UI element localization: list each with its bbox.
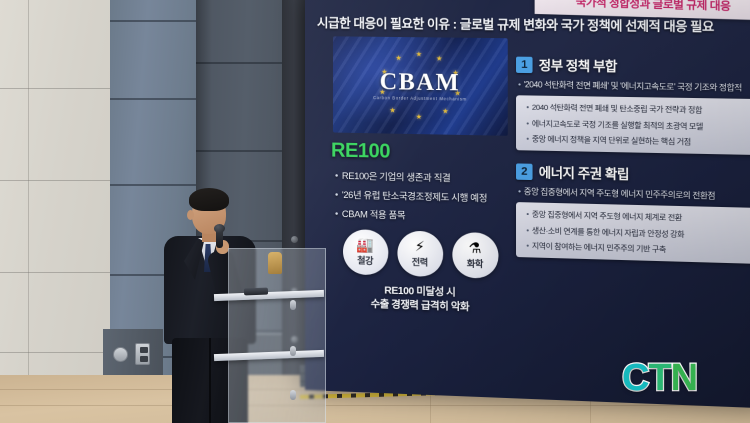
bullet-dot-icon: • xyxy=(526,118,528,127)
list-item-label: 2040 석탄화력 전면 폐쇄 및 탄소중립 국가 전략과 정합 xyxy=(532,103,702,115)
podium-knob xyxy=(290,390,296,400)
section-title: 에너지 주권 확립 xyxy=(539,162,629,183)
section-2-detail-card: •중앙 집중형에서 지역 주도형 에너지 체계로 전환 •생산·소비 연계를 통… xyxy=(516,202,750,264)
section-1-header: 1 정부 정책 부합 xyxy=(516,55,750,78)
bullet-dot-icon: • xyxy=(518,80,521,89)
section-subtitle-label: '2040 석탄화력 전면 폐쇄' 및 '에너지고속도로' 국정 기조와 정합적 xyxy=(524,80,742,92)
factory-icon: 🏭 xyxy=(356,237,374,253)
eu-star-icon: ★ xyxy=(416,114,422,121)
section-subtitle-label: 중앙 집중형에서 지역 주도형 에너지 민주주의로의 전환점 xyxy=(524,187,715,201)
podium-knob xyxy=(290,346,296,356)
presentation-screen: 시급한 대응이 필요한 이유 : 글로벌 규제 변화와 국가 정책에 선제적 대… xyxy=(305,0,750,409)
sector-icon-row: 🏭 철강 ⚡ 전력 ⚗ 화학 xyxy=(321,228,520,279)
bullet-dot-icon: • xyxy=(526,209,528,218)
list-item-label: 에너지고속도로 국정 기조를 실행할 최적의 초광역 모델 xyxy=(532,118,703,130)
section-number-badge: 1 xyxy=(516,56,533,73)
list-item: •지역이 참여하는 에너지 민주주의 기반 구축 xyxy=(526,240,750,258)
data-socket[interactable] xyxy=(135,343,150,365)
sector-chemical: ⚗ 화학 xyxy=(452,232,498,279)
bullet-dot-icon: • xyxy=(335,190,338,200)
bullet-dot-icon: • xyxy=(335,209,338,219)
re100-heading: RE100 xyxy=(331,140,520,167)
list-item-label: 중앙 에너지 정책을 지역 단위로 실현하는 핵심 거점 xyxy=(532,134,691,146)
ctn-letter-c: C xyxy=(622,357,648,399)
list-item: •생산·소비 연계를 통한 에너지 자립과 안정성 강화 xyxy=(526,224,750,241)
list-item-label: 지역이 참여하는 에너지 민주주의 기반 구축 xyxy=(532,241,666,254)
wall-panel-left xyxy=(0,0,118,423)
eu-star-icon: ★ xyxy=(436,56,442,63)
hair xyxy=(189,188,229,211)
list-item: •2040 석탄화력 전면 폐쇄 및 탄소중립 국가 전략과 정합 xyxy=(526,102,750,117)
list-item: •중앙 집중형에서 지역 주도형 에너지 체계로 전환 xyxy=(526,208,750,225)
list-item: •에너지고속도로 국정 기조를 실행할 최적의 초광역 모델 xyxy=(526,117,750,132)
lightning-bolt-icon: ⚡ xyxy=(415,239,425,254)
section-1: 1 정부 정책 부합 •'2040 석탄화력 전면 폐쇄' 및 '에너지고속도로… xyxy=(516,55,750,156)
sector-label: 전력 xyxy=(412,255,428,269)
podium-knob xyxy=(290,300,296,310)
sector-label: 철강 xyxy=(357,253,373,267)
list-item-label: RE100은 기업의 생존과 직결 xyxy=(342,171,451,183)
cbam-wordmark: CBAM xyxy=(333,68,508,98)
screenshot-stage: 시급한 대응이 필요한 이유 : 글로벌 규제 변화와 국가 정책에 선제적 대… xyxy=(0,0,750,423)
section-title: 정부 정책 부합 xyxy=(539,55,617,75)
slide-banner-text: 국가적 정합성과 글로벌 규제 대응 xyxy=(576,0,731,14)
sector-power: ⚡ 전력 xyxy=(397,230,443,277)
section-2: 2 에너지 주권 확립 •중앙 집중형에서 지역 주도형 에너지 민주주의로의 … xyxy=(516,161,750,264)
sector-label: 화학 xyxy=(467,257,483,271)
list-item: •CBAM 적용 품목 xyxy=(335,206,520,225)
flask-icon: ⚗ xyxy=(468,240,481,256)
acrylic-podium xyxy=(228,248,326,423)
bullet-dot-icon: • xyxy=(526,225,528,234)
slide-left-column: ★ ★ ★ ★ ★ ★ ★ ★ ★ ★ CBAM Carbon Border A… xyxy=(321,36,520,316)
bullet-dot-icon: • xyxy=(526,103,528,112)
bullet-dot-icon: • xyxy=(526,241,528,250)
section-number-badge: 2 xyxy=(516,163,533,180)
section-2-header: 2 에너지 주권 확립 xyxy=(516,161,750,186)
eu-star-icon: ★ xyxy=(442,108,448,115)
section-subtitle: •'2040 석탄화력 전면 폐쇄' 및 '에너지고속도로' 국정 기조와 정합… xyxy=(518,78,750,94)
eu-star-icon: ★ xyxy=(395,55,401,62)
bullet-dot-icon: • xyxy=(518,187,521,196)
bullet-dot-icon: • xyxy=(526,134,528,143)
sector-steel: 🏭 철강 xyxy=(343,229,388,276)
power-socket-round[interactable] xyxy=(113,347,128,362)
list-item-label: 중앙 집중형에서 지역 주도형 에너지 체계로 전환 xyxy=(532,210,682,223)
cbam-logo: ★ ★ ★ ★ ★ ★ ★ ★ ★ ★ CBAM Carbon Border A… xyxy=(333,36,508,135)
section-subtitle: •중앙 집중형에서 지역 주도형 에너지 민주주의로의 전환점 xyxy=(518,185,750,203)
left-bullet-list: •RE100은 기업의 생존과 직결 •'26년 유럽 탄소국경조정제도 시행 … xyxy=(335,168,520,225)
list-item-label: 생산·소비 연계를 통한 에너지 자립과 안정성 강화 xyxy=(532,225,684,238)
warning-text: RE100 미달성 시 수출 경쟁력 급격히 악화 xyxy=(321,282,520,316)
podium-device xyxy=(244,288,268,296)
ctn-letter-t: T xyxy=(648,357,670,399)
list-item-label: CBAM 적용 품목 xyxy=(342,209,405,221)
microphone-icon xyxy=(214,224,225,233)
list-item-label: '26년 유럽 탄소국경조정제도 시행 예정 xyxy=(342,190,487,204)
list-item: •'26년 유럽 탄소국경조정제도 시행 예정 xyxy=(335,187,520,206)
bullet-dot-icon: • xyxy=(335,171,338,181)
ctn-watermark-logo: CTN xyxy=(622,358,697,398)
list-item: •RE100은 기업의 생존과 직결 xyxy=(335,168,520,186)
ctn-letter-n: N xyxy=(671,357,697,399)
eu-star-icon: ★ xyxy=(416,51,422,58)
slide-right-column: 1 정부 정책 부합 •'2040 석탄화력 전면 폐쇄' 및 '에너지고속도로… xyxy=(516,55,750,265)
podium-trophy-object xyxy=(268,252,282,274)
ear xyxy=(187,210,194,220)
list-item: •중앙 에너지 정책을 지역 단위로 실현하는 핵심 거점 xyxy=(526,133,750,149)
eu-star-icon: ★ xyxy=(389,107,395,114)
section-1-detail-card: •2040 석탄화력 전면 폐쇄 및 탄소중립 국가 전략과 정합 •에너지고속… xyxy=(516,95,750,155)
